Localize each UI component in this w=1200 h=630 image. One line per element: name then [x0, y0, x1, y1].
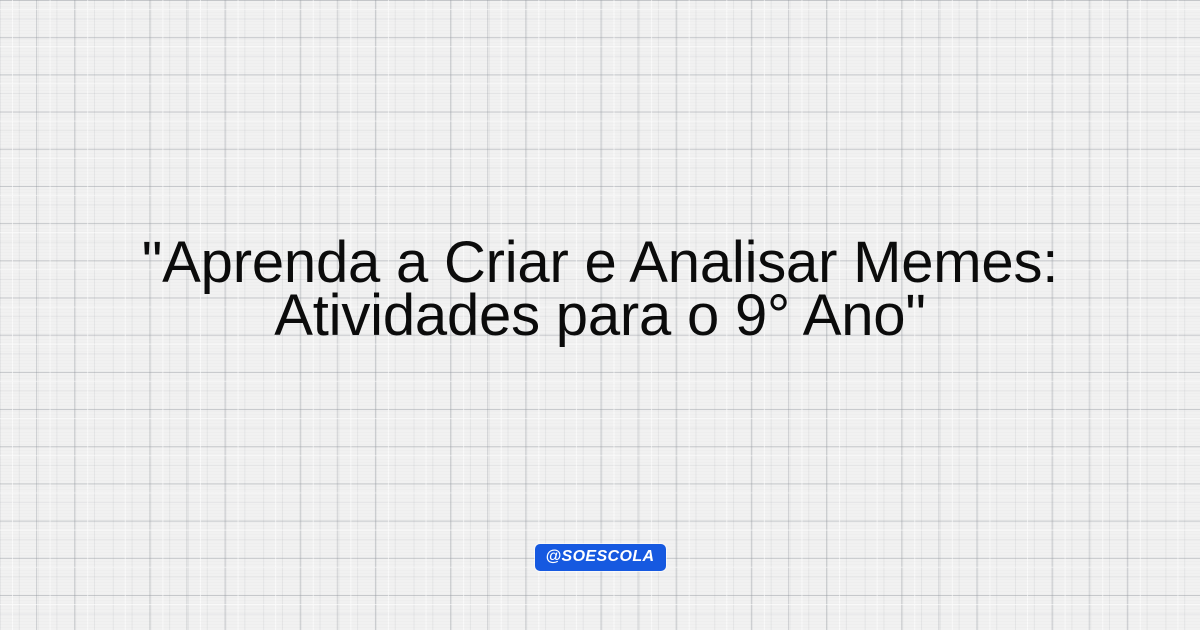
- social-card: "Aprenda a Criar e Analisar Memes: Ativi…: [0, 0, 1200, 630]
- brand-badge: @SOESCOLA: [535, 544, 666, 571]
- page-title: "Aprenda a Criar e Analisar Memes: Ativi…: [0, 236, 1200, 342]
- brand-badge-row: @SOESCOLA: [0, 544, 1200, 571]
